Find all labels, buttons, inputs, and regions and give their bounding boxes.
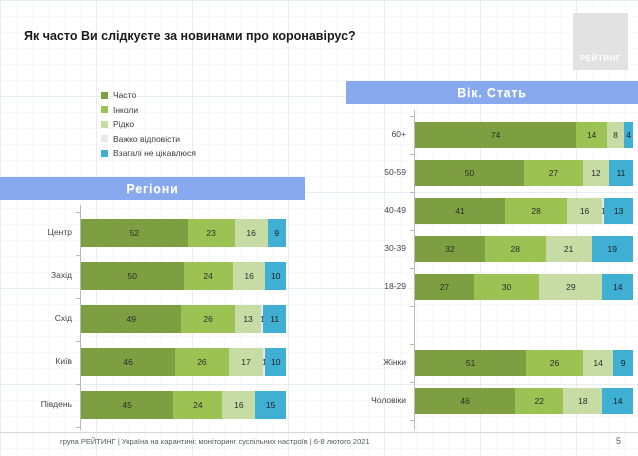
bar-segment[interactable]: 22 — [515, 388, 563, 414]
bar-segment-value: 12 — [591, 168, 600, 178]
bar-segment-value: 46 — [460, 396, 469, 406]
bar-segment-value: 51 — [466, 358, 475, 368]
bar-segment-value: 18 — [578, 396, 587, 406]
bar-segment[interactable]: 27 — [524, 160, 583, 186]
chart-legend: ЧастоІнколиРідкоВажко відповістиВзагалі … — [101, 88, 196, 161]
bar-segment[interactable]: 15 — [255, 391, 286, 419]
axis-tick — [410, 420, 414, 421]
bar-segment[interactable]: 9 — [268, 219, 286, 247]
bar-segment[interactable]: 49 — [81, 305, 181, 333]
bar-segment[interactable]: 14 — [583, 350, 614, 376]
bar-segment[interactable]: 16 — [567, 198, 602, 224]
legend-item-label: Часто — [113, 90, 136, 100]
bar-segment-value: 28 — [531, 206, 540, 216]
bar-segment-value: 16 — [244, 271, 253, 281]
bar-segment-value: 16 — [234, 400, 243, 410]
axis-tick — [76, 298, 80, 299]
legend-item-label: Взагалі не цікавлюся — [113, 148, 196, 158]
stacked-bar: 5126149 — [415, 350, 633, 376]
category-label: Чоловіки — [346, 395, 406, 405]
stacked-bar: 741484 — [415, 122, 633, 148]
bar-segment[interactable]: 18 — [563, 388, 602, 414]
bar-segment[interactable]: 46 — [81, 348, 175, 376]
bar-segment[interactable]: 16 — [235, 219, 268, 247]
bar-segment-value: 50 — [128, 271, 137, 281]
bar-segment[interactable]: 16 — [222, 391, 255, 419]
stacked-bar: 50241610 — [81, 262, 286, 290]
axis-tick — [76, 255, 80, 256]
category-label: Жінки — [346, 357, 406, 367]
stacked-bar: 50271211 — [415, 160, 633, 186]
category-label: Схід — [0, 313, 72, 323]
bar-segment-value: 26 — [550, 358, 559, 368]
chart-age-gender: 60+74148450-595027121140-4941281611330-3… — [346, 110, 638, 430]
bar-segment[interactable]: 24 — [173, 391, 222, 419]
bar-segment[interactable]: 14 — [576, 122, 607, 148]
legend-swatch-icon — [101, 121, 108, 128]
bar-segment-value: 16 — [580, 206, 589, 216]
bar-segment[interactable]: 11 — [609, 160, 633, 186]
axis-tick — [76, 212, 80, 213]
stacked-bar: 412816113 — [415, 198, 633, 224]
bar-segment-value: 15 — [266, 400, 275, 410]
bar-segment-value: 14 — [613, 396, 622, 406]
bar-segment-value: 21 — [564, 244, 573, 254]
bar-segment-value: 19 — [608, 244, 617, 254]
bar-segment-value: 45 — [122, 400, 131, 410]
axis-tick — [76, 427, 80, 428]
bar-segment[interactable]: 11 — [263, 305, 286, 333]
bar-segment-value: 26 — [197, 357, 206, 367]
bar-segment[interactable]: 24 — [184, 262, 233, 290]
category-label: 60+ — [346, 129, 406, 139]
bar-segment-value: 52 — [130, 228, 139, 238]
bar-segment[interactable]: 26 — [175, 348, 228, 376]
bar-segment-value: 16 — [246, 228, 255, 238]
axis-tick — [410, 382, 414, 383]
bar-segment[interactable]: 10 — [265, 348, 286, 376]
footer-divider — [0, 432, 638, 433]
legend-item-label: Важко відповісти — [113, 134, 180, 144]
bar-segment[interactable]: 29 — [539, 274, 602, 300]
stacked-bar: 45241615 — [81, 391, 286, 419]
chart-regions: Центр5223169Захід50241610Схід492613111Ки… — [0, 205, 305, 430]
axis-tick — [410, 230, 414, 231]
axis-tick — [410, 116, 414, 117]
section-header-regions-label: Регіони — [126, 182, 178, 196]
bar-segment-value: 30 — [502, 282, 511, 292]
section-header-age-gender: Вік. Стать — [346, 81, 638, 104]
page-number: 5 — [616, 436, 621, 446]
bar-segment[interactable]: 13 — [235, 305, 262, 333]
legend-item[interactable]: Взагалі не цікавлюся — [101, 146, 196, 161]
stacked-bar: 5223169 — [81, 219, 286, 247]
bar-segment[interactable]: 51 — [415, 350, 526, 376]
bar-segment-value: 46 — [123, 357, 132, 367]
rating-logo: РЕЙТИНГ — [573, 13, 628, 70]
bar-segment-value: 10 — [271, 357, 280, 367]
stacked-bar: 492613111 — [81, 305, 286, 333]
bar-segment[interactable]: 12 — [583, 160, 609, 186]
bar-segment-value: 27 — [549, 168, 558, 178]
rating-logo-text: РЕЙТИНГ — [573, 54, 628, 63]
bar-segment-value: 8 — [613, 130, 618, 140]
legend-swatch-icon — [101, 135, 108, 142]
axis-tick — [410, 306, 414, 307]
bar-segment-value: 74 — [491, 130, 500, 140]
bar-segment-value: 24 — [193, 400, 202, 410]
bar-segment-value: 9 — [621, 358, 626, 368]
bar-segment[interactable]: 28 — [505, 198, 567, 224]
bar-segment-value: 9 — [274, 228, 279, 238]
axis-tick — [76, 384, 80, 385]
bar-segment-value: 17 — [241, 357, 250, 367]
bar-segment-value: 32 — [445, 244, 454, 254]
bar-segment[interactable]: 10 — [265, 262, 286, 290]
legend-item-label: Рідко — [113, 119, 134, 129]
stacked-bar: 46221814 — [415, 388, 633, 414]
bar-segment[interactable]: 17 — [229, 348, 264, 376]
chart-axis-line — [414, 110, 415, 430]
bar-segment[interactable]: 23 — [188, 219, 235, 247]
legend-swatch-icon — [101, 106, 108, 113]
bar-segment[interactable]: 14 — [602, 388, 633, 414]
bar-segment[interactable]: 26 — [526, 350, 583, 376]
bar-segment-value: 27 — [440, 282, 449, 292]
bar-segment[interactable]: 28 — [485, 236, 546, 262]
bar-segment[interactable]: 50 — [81, 262, 184, 290]
axis-tick — [410, 154, 414, 155]
bar-segment[interactable]: 13 — [604, 198, 633, 224]
bar-segment[interactable]: 4 — [624, 122, 633, 148]
axis-tick — [410, 344, 414, 345]
bar-segment-value: 23 — [206, 228, 215, 238]
bar-segment[interactable]: 30 — [474, 274, 539, 300]
footer-source: група РЕЙТИНГ | Україна на карантині: мо… — [60, 437, 370, 446]
stacked-bar: 27302914 — [415, 274, 633, 300]
axis-tick — [410, 192, 414, 193]
bar-segment-value: 49 — [126, 314, 135, 324]
bar-segment[interactable]: 52 — [81, 219, 188, 247]
bar-segment[interactable]: 14 — [602, 274, 633, 300]
category-label: Центр — [0, 227, 72, 237]
stacked-bar: 32282119 — [415, 236, 633, 262]
category-label: 40-49 — [346, 205, 406, 215]
legend-item[interactable]: Рідко — [101, 117, 196, 132]
legend-item-label: Інколи — [113, 105, 138, 115]
bar-segment-value: 29 — [566, 282, 575, 292]
legend-swatch-icon — [101, 150, 108, 157]
bar-segment[interactable]: 27 — [415, 274, 474, 300]
bar-segment[interactable]: 16 — [233, 262, 266, 290]
bar-segment[interactable]: 9 — [613, 350, 633, 376]
bar-segment[interactable]: 74 — [415, 122, 576, 148]
section-header-age-gender-label: Вік. Стать — [457, 86, 527, 100]
bar-segment-value: 41 — [455, 206, 464, 216]
category-label: Захід — [0, 270, 72, 280]
bar-segment[interactable]: 41 — [415, 198, 505, 224]
category-label: Київ — [0, 356, 72, 366]
axis-tick — [76, 341, 80, 342]
bar-segment-value: 50 — [465, 168, 474, 178]
category-label: 18-29 — [346, 281, 406, 291]
bar-segment-value: 26 — [203, 314, 212, 324]
slide-canvas: РЕЙТИНГ Як часто Ви слідкуєте за новинам… — [0, 0, 638, 456]
bar-segment[interactable]: 50 — [415, 160, 524, 186]
axis-tick — [410, 268, 414, 269]
bar-segment-value: 14 — [593, 358, 602, 368]
bar-segment-value: 14 — [587, 130, 596, 140]
section-header-regions: Регіони — [0, 177, 305, 200]
bar-segment-value: 14 — [613, 282, 622, 292]
bar-segment[interactable]: 26 — [181, 305, 234, 333]
bar-segment-value: 28 — [511, 244, 520, 254]
stacked-bar: 462617110 — [81, 348, 286, 376]
bar-segment-value: 24 — [203, 271, 212, 281]
category-label: 50-59 — [346, 167, 406, 177]
category-label: Південь — [0, 399, 72, 409]
legend-item[interactable]: Важко відповісти — [101, 132, 196, 147]
bar-segment-value: 4 — [626, 130, 631, 140]
bar-segment[interactable]: 45 — [81, 391, 173, 419]
bar-segment-value: 11 — [617, 168, 626, 178]
bar-segment[interactable]: 46 — [415, 388, 515, 414]
category-label: 30-39 — [346, 243, 406, 253]
legend-item[interactable]: Інколи — [101, 103, 196, 118]
legend-item[interactable]: Часто — [101, 88, 196, 103]
bar-segment-value: 22 — [535, 396, 544, 406]
bar-segment-value: 10 — [271, 271, 280, 281]
bar-segment-value: 11 — [270, 314, 279, 324]
bar-segment-value: 13 — [614, 206, 623, 216]
legend-swatch-icon — [101, 92, 108, 99]
bar-segment[interactable]: 21 — [546, 236, 592, 262]
bar-segment[interactable]: 8 — [607, 122, 624, 148]
page-title: Як часто Ви слідкуєте за новинами про ко… — [24, 29, 356, 43]
bar-segment[interactable]: 32 — [415, 236, 485, 262]
bar-segment[interactable]: 19 — [592, 236, 633, 262]
bar-segment-value: 13 — [243, 314, 252, 324]
